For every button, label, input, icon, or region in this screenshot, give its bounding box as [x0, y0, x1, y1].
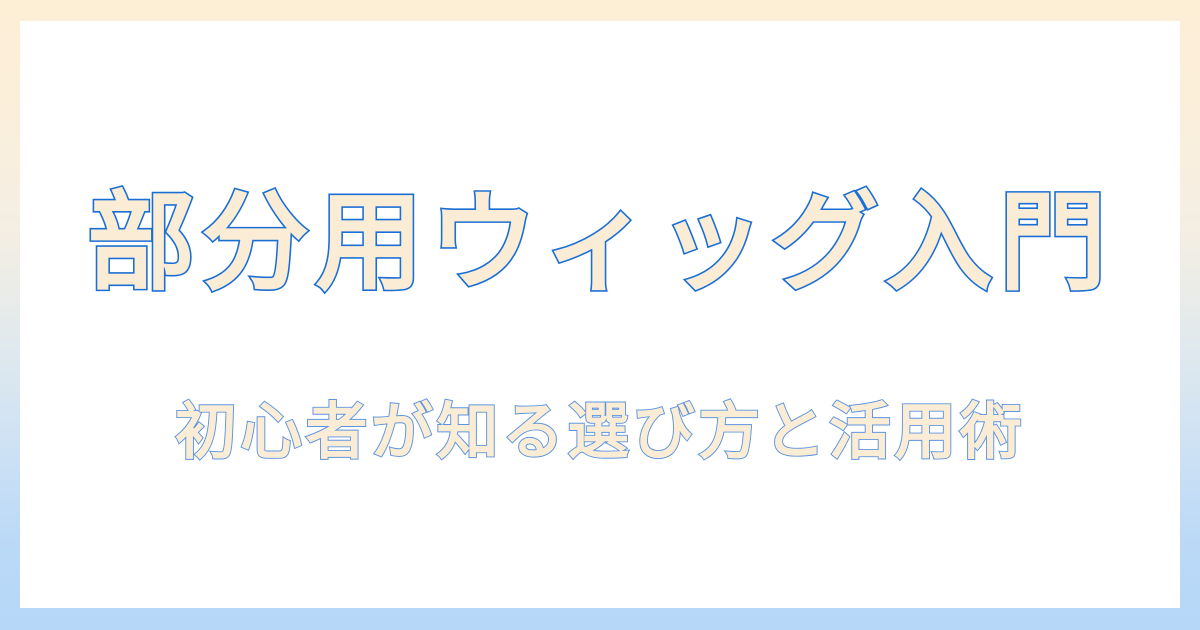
page-title: 部分用ウィッグ入門 — [87, 184, 1112, 305]
title-banner: 部分用ウィッグ入門 初心者が知る選び方と活用術 — [0, 0, 1200, 630]
banner-content: 部分用ウィッグ入門 初心者が知る選び方と活用術 — [20, 21, 1180, 608]
title-container: 部分用ウィッグ入門 — [20, 184, 1180, 305]
inner-white-card: 部分用ウィッグ入門 初心者が知る選び方と活用術 — [20, 21, 1180, 608]
page-subtitle: 初心者が知る選び方と活用術 — [175, 395, 1025, 469]
subtitle-container: 初心者が知る選び方と活用術 — [20, 395, 1180, 469]
